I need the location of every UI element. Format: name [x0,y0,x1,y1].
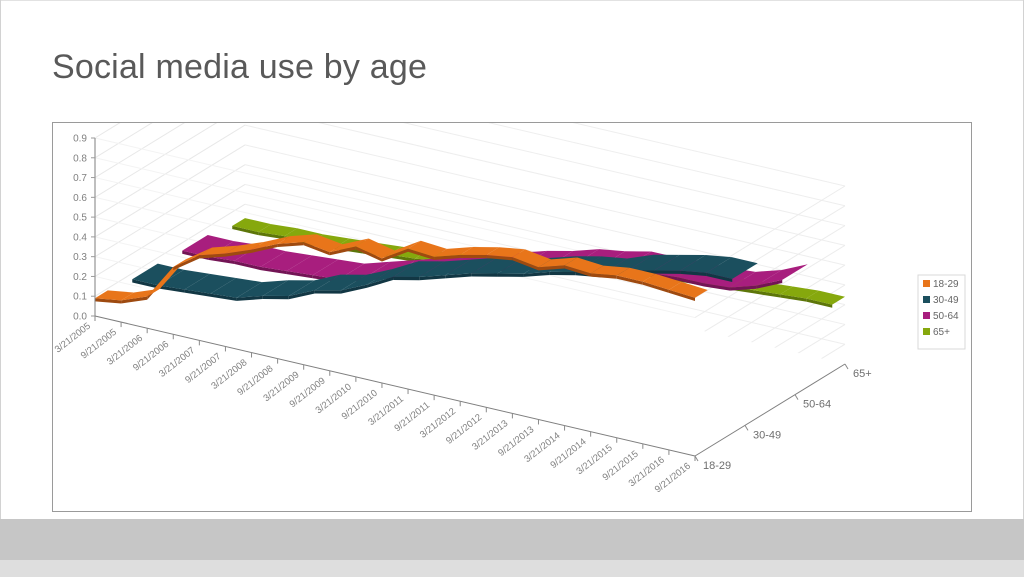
chart-3d-line[interactable]: 0.00.10.20.30.40.50.60.70.80.9 3/21/2005… [53,123,973,513]
chart-container[interactable]: 0.00.10.20.30.40.50.60.70.80.9 3/21/2005… [52,122,972,512]
footer-band [0,519,1024,560]
legend-swatch [923,280,930,287]
slide-canvas: Social media use by age 0.00.10.20.30.40… [0,0,1024,577]
y-axis-tick-label: 0.2 [73,272,87,283]
y-axis-tick-label: 0.4 [73,232,87,243]
y-axis-tick-label: 0.1 [73,292,87,303]
depth-axis-tick-label: 30-49 [753,429,781,441]
legend-label: 50-64 [933,311,959,322]
legend-label: 30-49 [933,295,959,306]
depth-axis-tick-label: 18-29 [703,460,731,472]
y-axis-tick-label: 0.3 [73,252,87,263]
legend-swatch [923,328,930,335]
legend-label: 18-29 [933,279,959,290]
depth-axis-tick-label: 65+ [853,368,872,380]
legend-swatch [923,312,930,319]
chart-legend[interactable]: 18-2930-4950-6465+ [918,275,965,349]
y-axis-tick-label: 0.6 [73,193,87,204]
depth-axis-tick-label: 50-64 [803,399,831,411]
y-axis-labels: 0.00.10.20.30.40.50.60.70.80.9 [73,134,95,323]
legend-label: 65+ [933,327,950,338]
y-axis-tick-label: 0.5 [73,213,87,224]
slide-top-edge [0,0,1024,1]
y-axis-tick-label: 0.8 [73,153,87,164]
slide-left-edge [0,0,1,519]
y-axis-tick-label: 0.9 [73,134,87,145]
footer-strip [0,560,1024,577]
page-title: Social media use by age [52,48,427,87]
y-axis-tick-label: 0.7 [73,173,87,184]
legend-swatch [923,296,930,303]
